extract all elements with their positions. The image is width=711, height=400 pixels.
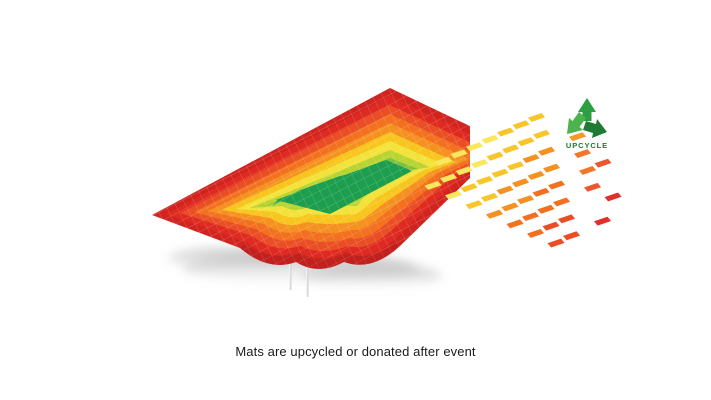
mat-tile <box>471 159 488 168</box>
mat-tile <box>512 178 529 187</box>
mat-tile <box>538 147 555 156</box>
mat-tile <box>507 219 524 228</box>
mat-tile <box>476 176 493 185</box>
upcycle-label: UPCYCLE <box>556 141 618 150</box>
mat-tile <box>543 164 560 173</box>
mat-tile <box>594 217 611 226</box>
mat-tile <box>497 186 514 195</box>
mat-tile <box>527 229 544 238</box>
mat-tile <box>522 212 539 221</box>
mat-tile <box>502 203 519 212</box>
mat-tile <box>584 183 601 192</box>
mat-tile <box>605 193 622 202</box>
recycle-arrows-icon <box>563 96 611 140</box>
mat-tile <box>481 193 498 202</box>
mat-tile <box>595 159 612 168</box>
mat-tile <box>507 161 524 170</box>
mat-tile <box>533 130 550 139</box>
mat-tile <box>528 171 545 180</box>
mat-tile <box>482 135 499 144</box>
mat-tile <box>553 198 570 207</box>
mat-grid-texture <box>152 88 520 269</box>
mat-tile <box>517 195 534 204</box>
illustration-stage: UPCYCLE Mats are upcycled or donated aft… <box>0 0 711 400</box>
caption-text: Mats are upcycled or donated after event <box>0 343 711 360</box>
mat-tile <box>528 113 545 122</box>
mat-tile <box>497 128 514 137</box>
mat-tile <box>548 181 565 190</box>
mat-tile <box>502 145 519 154</box>
mat-tile <box>523 154 540 163</box>
mat-tile <box>579 166 596 175</box>
mat-tile <box>563 231 580 240</box>
mat-bands <box>152 88 520 269</box>
mat-illustration <box>0 0 711 400</box>
mat-tile <box>518 137 535 146</box>
mat-tile <box>466 200 483 209</box>
mat-tile <box>548 239 565 248</box>
mat-tile <box>486 210 503 219</box>
upcycle-badge: UPCYCLE <box>556 96 618 158</box>
mat-tile <box>543 222 560 231</box>
mat-tile <box>513 120 530 129</box>
mat-tile <box>492 169 509 178</box>
mat-tile <box>533 188 550 197</box>
mat-tile <box>487 152 504 161</box>
mat-tile <box>558 214 575 223</box>
mat-tile <box>538 205 555 214</box>
